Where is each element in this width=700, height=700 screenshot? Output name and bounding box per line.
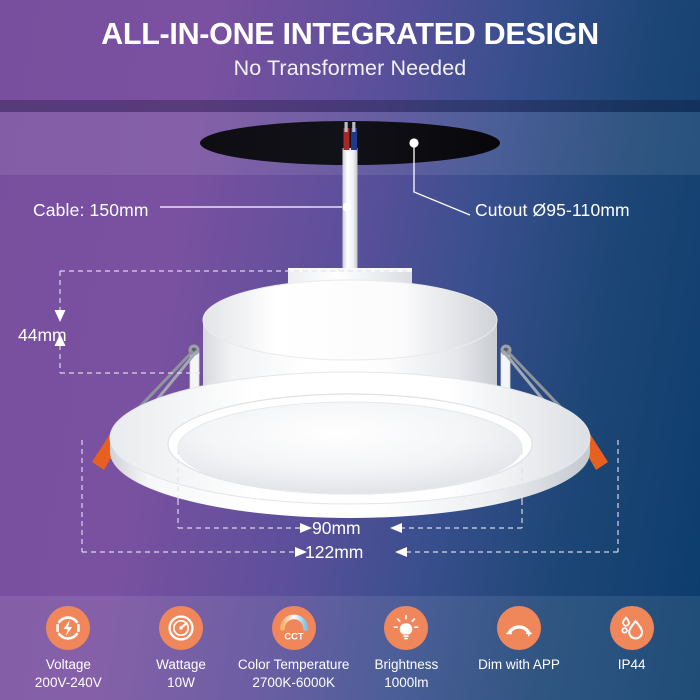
annotation-cable-length: Cable: 150mm	[33, 200, 149, 221]
feature-label: Dim with APP	[478, 657, 560, 674]
feature-label: IP44	[618, 657, 646, 674]
dimension-height: 44mm	[18, 325, 67, 346]
feature-brightness: Brightness 1000lm	[350, 596, 463, 691]
feature-label: Brightness	[374, 657, 438, 674]
feature-value: 1000lm	[384, 674, 428, 692]
feature-value: 200V-240V	[35, 674, 102, 692]
brightness-bulb-icon	[384, 606, 428, 650]
feature-color-temperature: CCT Color Temperature 2700K-6000K	[237, 596, 350, 691]
cct-badge-text: CCT	[284, 630, 304, 641]
feature-ip-rating: IP44	[575, 596, 688, 674]
color-temperature-cct-icon: CCT	[272, 606, 316, 650]
wattage-gauge-icon	[159, 606, 203, 650]
product-illustration	[0, 0, 700, 700]
feature-value: 2700K-6000K	[252, 674, 335, 692]
feature-dim-with-app: Dim with APP	[463, 596, 576, 674]
dimension-outer-diameter: 122mm	[305, 542, 363, 563]
feature-label: Wattage	[156, 657, 206, 674]
feature-label: Voltage	[46, 657, 91, 674]
annotation-cutout-size: Cutout Ø95-110mm	[475, 200, 630, 221]
water-droplet-icon	[610, 606, 654, 650]
infographic-canvas: ALL-IN-ONE INTEGRATED DESIGN No Transfor…	[0, 0, 700, 700]
feature-wattage: Wattage 10W	[125, 596, 238, 691]
feature-specs-row: Voltage 200V-240V Wattage 10W	[0, 596, 700, 700]
feature-value: 10W	[167, 674, 195, 692]
feature-voltage: Voltage 200V-240V	[12, 596, 125, 691]
dimmer-knob-icon	[497, 606, 541, 650]
frosted-diffuser	[178, 402, 522, 494]
dimension-inner-diameter: 90mm	[312, 518, 361, 539]
feature-label: Color Temperature	[238, 657, 350, 674]
voltage-bolt-icon	[46, 606, 90, 650]
